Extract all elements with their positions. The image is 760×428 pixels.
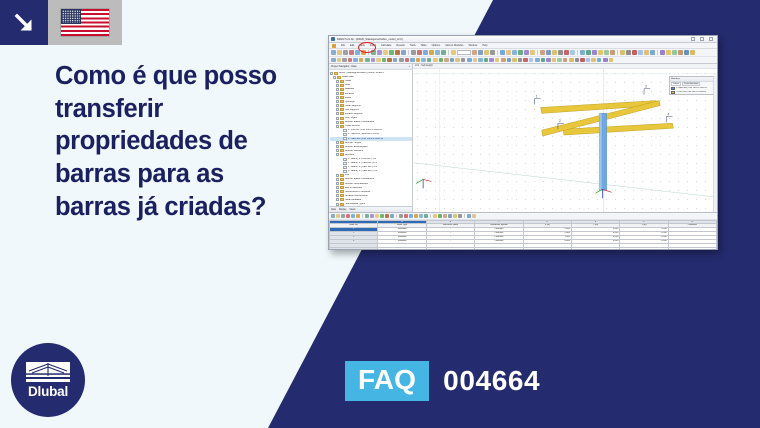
headline-line: Como é que posso: [55, 60, 300, 93]
expand-icon[interactable]: [336, 174, 339, 177]
expand-icon[interactable]: [336, 194, 339, 197]
expand-icon[interactable]: [336, 178, 339, 181]
toolbar-button[interactable]: [346, 214, 350, 218]
toolbar-button[interactable]: [591, 58, 596, 63]
headline-line: barras para as: [55, 158, 300, 191]
viewport-label: LC1 - Self-weight: [415, 65, 433, 67]
tree-item-label: Member Elastic Foundations: [345, 178, 375, 180]
toolbar-separator: [497, 50, 498, 55]
toolbar-button[interactable]: [518, 50, 523, 55]
main-toolbar[interactable]: [329, 49, 717, 57]
tree-item-label: Sets of Members: [345, 187, 363, 189]
toolbar-button[interactable]: [609, 58, 614, 63]
toolbar-button[interactable]: [441, 50, 446, 55]
toolbar-button[interactable]: [416, 58, 421, 63]
toolbar-button[interactable]: [395, 50, 400, 55]
toolbar-button[interactable]: [563, 58, 568, 63]
toolbar-button[interactable]: [376, 58, 381, 63]
toolbar-button[interactable]: [472, 214, 476, 218]
toolbar-button[interactable]: [678, 50, 683, 55]
tree-item-label: 1 - Beam | 1 | IPE 240 | 1 m: [348, 158, 377, 160]
menu-item-calculate[interactable]: Calculate: [381, 44, 391, 47]
toolbar-button[interactable]: [337, 58, 342, 63]
toolbar-button[interactable]: [342, 58, 347, 63]
toolbar-button[interactable]: [666, 50, 671, 55]
toolbar-button[interactable]: [552, 58, 557, 63]
member-icon: [343, 158, 347, 161]
folder-icon: [340, 88, 344, 91]
navigator-tree[interactable]: 00026 | Stabeigenschaften_modul | RFEM 5…: [329, 70, 412, 206]
headline-line: propriedades de: [55, 125, 300, 158]
toolbar-button[interactable]: [370, 214, 374, 218]
menu-item-options[interactable]: Options: [432, 44, 441, 47]
toolbar-button[interactable]: [371, 58, 376, 63]
legend-title: Members: [671, 78, 680, 80]
member-icon: [343, 170, 347, 173]
expand-icon[interactable]: [336, 117, 339, 120]
maximize-button[interactable]: [700, 37, 704, 41]
toolbar-button[interactable]: [365, 214, 369, 218]
toolbar-button[interactable]: [603, 58, 608, 63]
minimize-button[interactable]: [691, 37, 695, 41]
toolbar-button[interactable]: [375, 214, 379, 218]
toolbar-button[interactable]: [383, 50, 388, 55]
node-label: 2: [559, 119, 561, 123]
cell-empty[interactable]: [523, 247, 571, 250]
menu-item-help[interactable]: Help: [482, 44, 487, 47]
table-panel[interactable]: A B C D E F G Node No. Node Type Referen…: [329, 212, 717, 250]
tree-item-label: 2 - HEA 200 | Euronorm 53-62: [348, 133, 379, 135]
tree-root-label: 00026 | Stabeigenschaften_modul | RFEM 5: [339, 72, 385, 74]
toolbar-button[interactable]: [473, 58, 478, 63]
toolbar-button[interactable]: [356, 214, 360, 218]
tree-item-label: 4 - Beam | 4 | HEB 300 | 4 m: [348, 170, 378, 172]
tree-item-label: Member Nonlinearities: [345, 183, 368, 185]
navigator-tab-display[interactable]: Display: [339, 209, 347, 211]
toolbar-button[interactable]: [684, 50, 689, 55]
toolbar-button[interactable]: [586, 58, 591, 63]
headline-line: transferir: [55, 93, 300, 126]
tree-item-label: Model Data: [342, 76, 354, 78]
legend-tab-cross-sections[interactable]: Cross-Sections: [682, 82, 700, 86]
section-icon: [343, 129, 347, 132]
toolbar-button[interactable]: [385, 214, 389, 218]
tree-item-label: 1 - IPE 240 | DIN 1025-5:1994-03: [348, 129, 383, 131]
toolbar-separator: [577, 50, 578, 55]
cell-empty[interactable]: [475, 247, 523, 250]
toolbar-button[interactable]: [626, 50, 631, 55]
slide-canvas: Como é que posso transferir propriedades…: [0, 0, 760, 428]
expand-icon[interactable]: [336, 145, 339, 148]
toolbar-button[interactable]: [490, 50, 495, 55]
toolbar-button[interactable]: [331, 50, 336, 55]
toolbar-button[interactable]: [349, 50, 354, 55]
toolbar-separator: [448, 50, 449, 55]
tree-item-label: Member Divisions: [345, 150, 364, 152]
expand-icon[interactable]: [336, 141, 339, 144]
expand-icon[interactable]: [336, 104, 339, 107]
tree-item-label: Members: [345, 154, 355, 156]
toolbar-button[interactable]: [443, 214, 447, 218]
toolbar-button[interactable]: [353, 58, 358, 63]
expand-icon[interactable]: [336, 190, 339, 193]
bridge-truss-icon: [25, 361, 71, 383]
faq-tag: FAQ: [345, 361, 429, 401]
legend-swatch-yellow: [671, 91, 675, 94]
folder-icon: [340, 92, 344, 95]
cell-empty[interactable]: [378, 247, 426, 250]
faq-bar: FAQ 004664: [345, 361, 540, 401]
legend-swatch-blue: [671, 87, 675, 90]
toolbar-combobox[interactable]: [457, 50, 471, 55]
toolbar-button[interactable]: [411, 50, 416, 55]
expand-icon[interactable]: [336, 92, 339, 95]
toolbar-button[interactable]: [501, 58, 506, 63]
tree-item-label: Surface Supports: [345, 113, 363, 115]
toolbar-button[interactable]: [390, 214, 394, 218]
toolbar-button[interactable]: [405, 58, 410, 63]
toolbar-button[interactable]: [439, 58, 444, 63]
cell-empty[interactable]: [330, 247, 378, 250]
secondary-toolbar[interactable]: [329, 57, 717, 64]
tree-item-label: Intersections of Surfaces: [345, 191, 371, 193]
toolbar-button[interactable]: [448, 214, 452, 218]
toolbar-button[interactable]: [419, 214, 423, 218]
table-row-empty[interactable]: [330, 247, 717, 250]
folder-icon: [340, 125, 344, 128]
toolbar-button[interactable]: [399, 214, 403, 218]
toolbar-button[interactable]: [507, 58, 512, 63]
tree-item-label: FE Mesh Refinements: [345, 195, 368, 197]
toolbar-button[interactable]: [580, 50, 585, 55]
folder-icon: [340, 121, 344, 124]
folder-icon: [340, 194, 344, 197]
toolbar-button[interactable]: [672, 50, 677, 55]
tree-item-label: Ribs: [345, 174, 350, 176]
toolbar-separator: [408, 50, 409, 55]
toolbar-button[interactable]: [399, 58, 404, 63]
toolbar-button[interactable]: [495, 58, 500, 63]
arrow-down-right-icon: [0, 0, 48, 45]
toolbar-button[interactable]: [598, 50, 603, 55]
toolbar-button[interactable]: [467, 58, 472, 63]
toolbar-button[interactable]: [546, 50, 551, 55]
toolbar-button[interactable]: [331, 58, 336, 63]
toolbar-button[interactable]: [530, 50, 535, 55]
folder-icon: [340, 186, 344, 189]
member-icon: [343, 162, 347, 165]
tree-item-label: Nodal Releases: [345, 199, 361, 201]
toolbar-button[interactable]: [404, 214, 408, 218]
menu-item-window[interactable]: Window: [468, 44, 477, 47]
navigator-close-icon[interactable]: x: [409, 65, 410, 68]
menu-item-file[interactable]: File: [341, 44, 345, 47]
window-title: RFEM 5.21.02 - [00026_Stabeigenschaften_…: [337, 38, 689, 41]
expand-icon[interactable]: [336, 121, 339, 124]
window-buttons[interactable]: [691, 37, 715, 41]
toolbar-button[interactable]: [597, 58, 602, 63]
expand-icon[interactable]: [336, 84, 339, 87]
toolbar-separator: [464, 214, 465, 218]
folder-icon: [340, 108, 344, 111]
logo-brand-text: Dlubal: [28, 384, 68, 399]
dlubal-logo: Dlubal: [11, 343, 85, 417]
folder-icon: [340, 112, 344, 115]
app-body: Project Navigator - Data x 00026 | Stabe…: [329, 64, 717, 212]
toolbar-button[interactable]: [540, 50, 545, 55]
annotation-highlight-ellipse: [358, 42, 376, 53]
toolbar-button[interactable]: [351, 214, 355, 218]
toolbar-button[interactable]: [529, 58, 534, 63]
expand-icon[interactable]: [336, 182, 339, 185]
toolbar-button[interactable]: [512, 58, 517, 63]
toolbar-button[interactable]: [417, 50, 422, 55]
toolbar-button[interactable]: [564, 50, 569, 55]
cell-empty[interactable]: [426, 247, 474, 250]
toolbar-button[interactable]: [690, 50, 695, 55]
folder-icon: [340, 178, 344, 181]
toolbar-button[interactable]: [382, 58, 387, 63]
toolbar-button[interactable]: [546, 58, 551, 63]
tree-item-label: Member Eccentricities: [345, 146, 368, 148]
expand-icon[interactable]: [333, 76, 336, 79]
toolbar-button[interactable]: [632, 50, 637, 55]
toolbar-button[interactable]: [429, 50, 434, 55]
member-icon: [343, 166, 347, 169]
tree-item-label: Line Supports: [345, 109, 359, 111]
toolbar-button[interactable]: [458, 214, 462, 218]
toolbar-button[interactable]: [558, 50, 563, 55]
node-label: 4: [667, 112, 669, 116]
tree-item-label: 3 - HEB 300 | DIN 1025-2:1995-11: [348, 138, 384, 140]
toolbar-button[interactable]: [500, 50, 505, 55]
folder-icon: [340, 145, 344, 148]
toolbar-button[interactable]: [660, 50, 665, 55]
toolbar-button[interactable]: [592, 50, 597, 55]
toolbar-button[interactable]: [444, 58, 449, 63]
model-viewport[interactable]: LC1 - Self-weight: [413, 64, 717, 212]
expand-icon[interactable]: [336, 96, 339, 99]
toolbar-button[interactable]: [620, 50, 625, 55]
toolbar-button[interactable]: [337, 50, 342, 55]
toolbar-button[interactable]: [389, 50, 394, 55]
tree-item-label: Line Hinges: [345, 117, 357, 119]
toolbar-button[interactable]: [365, 58, 370, 63]
toolbar-button[interactable]: [518, 58, 523, 63]
navigator-footer-tabs[interactable]: Data Display Views: [329, 206, 412, 212]
folder-icon: [340, 80, 344, 83]
menu-item-tools[interactable]: Tools: [410, 44, 416, 47]
folder-icon: [340, 190, 344, 193]
toolbar-button[interactable]: [341, 214, 345, 218]
toolbar-button[interactable]: [484, 58, 489, 63]
nodes-table[interactable]: A B C D E F G Node No. Node Type Referen…: [329, 220, 717, 251]
toolbar-button[interactable]: [484, 50, 489, 55]
toolbar-button[interactable]: [557, 58, 562, 63]
toolbar-button[interactable]: [348, 58, 353, 63]
headline: Como é que posso transferir propriedades…: [55, 60, 300, 223]
toolbar-button[interactable]: [427, 58, 432, 63]
toolbar-separator: [657, 50, 658, 55]
toolbar-button[interactable]: [359, 58, 364, 63]
toolbar-separator: [362, 214, 363, 218]
legend-tab-colors[interactable]: Colors: [671, 82, 681, 86]
toolbar-button[interactable]: [604, 50, 609, 55]
expand-icon[interactable]: [336, 108, 339, 111]
navigator-title: Project Navigator - Data: [331, 65, 357, 68]
tree-item-label: Openings: [345, 101, 355, 103]
toolbar-button[interactable]: [453, 214, 457, 218]
toolbar-button[interactable]: [451, 50, 456, 55]
node-label: 3: [645, 85, 647, 89]
tree-item-label: Member Hinges: [345, 142, 361, 144]
toolbar-button[interactable]: [387, 58, 392, 63]
expand-icon[interactable]: [336, 112, 339, 115]
folder-icon: [340, 117, 344, 120]
folder-icon: [340, 84, 344, 87]
folder-icon: [340, 104, 344, 107]
menu-item-edit[interactable]: Edit: [350, 44, 354, 47]
toolbar-button[interactable]: [461, 58, 466, 63]
menu-item-results[interactable]: Results: [396, 44, 404, 47]
folder-icon: [340, 174, 344, 177]
headline-line: barras já criadas?: [55, 191, 300, 224]
close-button[interactable]: [709, 37, 713, 41]
toolbar-button[interactable]: [380, 214, 384, 218]
toolbar-button[interactable]: [570, 50, 575, 55]
navigator-tab-data[interactable]: Data: [331, 209, 336, 211]
toolbar-button[interactable]: [410, 58, 415, 63]
toolbar-button[interactable]: [421, 58, 426, 63]
vertical-column-member: [599, 113, 606, 190]
navigator-tab-views[interactable]: Views: [349, 209, 355, 211]
toolbar-button[interactable]: [512, 50, 517, 55]
folder-icon: [340, 198, 344, 201]
toolbar-button[interactable]: [489, 58, 494, 63]
toolbar-button[interactable]: [523, 58, 528, 63]
toolbar-button[interactable]: [336, 214, 340, 218]
toolbar-button[interactable]: [535, 58, 540, 63]
toolbar-button[interactable]: [506, 50, 511, 55]
toolbar-separator: [396, 214, 397, 218]
toolbar-button[interactable]: [433, 214, 437, 218]
tree-item-label: Nodal Supports: [345, 105, 361, 107]
folder-icon: [340, 149, 344, 152]
folder-icon: [340, 182, 344, 185]
toolbar-button[interactable]: [478, 58, 483, 63]
toolbar-button[interactable]: [414, 214, 418, 218]
expand-icon[interactable]: [336, 100, 339, 103]
toolbar-button[interactable]: [343, 50, 348, 55]
cell-empty[interactable]: [668, 247, 716, 250]
toolbar-button[interactable]: [524, 50, 529, 55]
toolbar-separator: [617, 50, 618, 55]
expand-icon[interactable]: [336, 153, 339, 156]
toolbar-button[interactable]: [644, 50, 649, 55]
menu-item-table[interactable]: Table: [421, 44, 427, 47]
tree-item-label: Line Release Types: [345, 203, 365, 205]
project-navigator[interactable]: Project Navigator - Data x 00026 | Stabe…: [329, 64, 413, 212]
tree-item-label: Solids: [345, 97, 351, 99]
node-label: 1: [536, 95, 538, 99]
menu-bar[interactable]: File Edit View Insert Calculate Results …: [329, 43, 717, 49]
toolbar-button[interactable]: [409, 214, 413, 218]
toolbar-button[interactable]: [433, 58, 438, 63]
toolbar-button[interactable]: [401, 50, 406, 55]
tree-item-label: 3 - Beam | 3 | HEB 300 | 3 m: [348, 166, 378, 168]
toolbar-button[interactable]: [455, 58, 460, 63]
toolbar-button[interactable]: [610, 50, 615, 55]
toolbar-button[interactable]: [331, 214, 335, 218]
toolbar-button[interactable]: [472, 50, 477, 55]
expand-icon[interactable]: [336, 149, 339, 152]
expand-icon[interactable]: [336, 125, 339, 128]
toolbar-button[interactable]: [575, 58, 580, 63]
legend-entry-label: 2 - IPE 240 | DIN 1025-5:1994-03: [676, 91, 707, 93]
viewport-right-strip[interactable]: [713, 76, 717, 212]
folder-icon: [337, 76, 341, 79]
expand-icon[interactable]: [336, 186, 339, 189]
toolbar-button[interactable]: [467, 214, 471, 218]
members-legend-panel[interactable]: Members x Colors Cross-Sections 1 - HEB …: [669, 76, 716, 95]
expand-icon[interactable]: [330, 72, 333, 75]
axis-triad-left: [416, 179, 431, 188]
language-badge-row: [0, 0, 122, 45]
toolbar-button[interactable]: [586, 50, 591, 55]
toolbar-button[interactable]: [377, 50, 382, 55]
toolbar-button[interactable]: [478, 50, 483, 55]
folder-icon: [340, 96, 344, 99]
tree-item-label: Surfaces: [345, 93, 354, 95]
expand-icon[interactable]: [336, 80, 339, 83]
viewport-canvas[interactable]: 1 2 3 4: [413, 69, 717, 212]
toolbar-button[interactable]: [450, 58, 455, 63]
tree-item-label: Lines: [345, 84, 351, 86]
toolbar-button[interactable]: [393, 58, 398, 63]
toolbar-button[interactable]: [541, 58, 546, 63]
toolbar-button[interactable]: [569, 58, 574, 63]
us-flag-icon: [48, 0, 122, 45]
cell-empty[interactable]: [620, 247, 668, 250]
legend-entry-label: 1 - HEB 300 | DIN 1025-2:1995-11: [676, 87, 708, 89]
expand-icon[interactable]: [336, 88, 339, 91]
rfem-application-window[interactable]: RFEM 5.21.02 - [00026_Stabeigenschaften_…: [328, 35, 718, 250]
section-icon: [343, 133, 347, 136]
tree-item-label: Nodes: [345, 80, 352, 82]
table-body[interactable]: 1Standard-Cartesian0.0000.0000.0002Stand…: [330, 227, 717, 250]
tree-item-label: Cross-Sections: [345, 125, 361, 127]
toolbar-button[interactable]: [435, 50, 440, 55]
toolbar-button[interactable]: [552, 50, 557, 55]
app-icon: [331, 37, 335, 41]
toolbar-button[interactable]: [424, 214, 428, 218]
toolbar-button[interactable]: [438, 214, 442, 218]
section-icon: [343, 137, 347, 140]
menu-app-icon: [332, 44, 336, 48]
toolbar-button[interactable]: [423, 50, 428, 55]
tree-item-label: Materials: [345, 88, 354, 90]
tree-item-label: 2 - Beam | 2 | HEA 200 | 2 m: [348, 162, 378, 164]
toolbar-button[interactable]: [650, 50, 655, 55]
cell-empty[interactable]: [571, 247, 619, 250]
toolbar-separator: [430, 214, 431, 218]
menu-item-addon-modules[interactable]: Add-on Modules: [445, 44, 463, 47]
toolbar-button[interactable]: [580, 58, 585, 63]
expand-icon[interactable]: [336, 198, 339, 201]
tree-item-label: Member Elastic Foundations: [345, 121, 375, 123]
legend-entry: 2 - IPE 240 | DIN 1025-5:1994-03: [670, 90, 715, 94]
toolbar-button[interactable]: [638, 50, 643, 55]
